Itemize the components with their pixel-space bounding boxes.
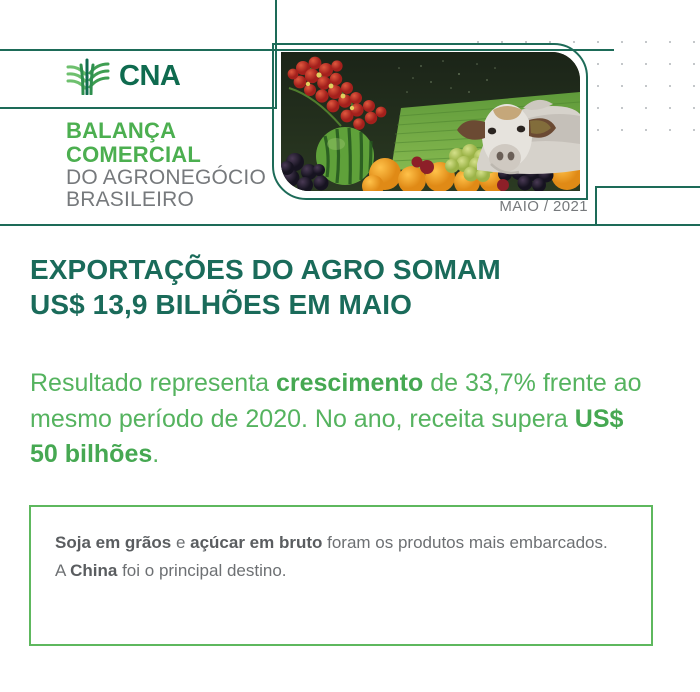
brand-line-agro: DO AGRONEGÓCIO <box>66 167 266 190</box>
cna-logo: CNA <box>66 57 180 95</box>
cna-wordmark: CNA <box>119 62 180 91</box>
hero-photo <box>281 52 580 191</box>
highlight-text-destino: foi o principal destino. <box>117 561 286 580</box>
header-rule-mid-left <box>0 107 277 109</box>
highlights-text: Soja em grãos e açúcar em bruto foram os… <box>31 507 651 584</box>
highlight-text-tail: foram os produtos mais embarcados. <box>322 533 607 552</box>
highlight-text-e: e <box>171 533 190 552</box>
issue-date: MAIO / 2021 <box>466 198 588 215</box>
highlight-destination: A China foi o principal destino. <box>55 557 627 585</box>
cna-wheat-leaf-icon <box>66 57 110 95</box>
summary-paragraph: Resultado representa crescimento de 33,7… <box>30 366 650 473</box>
headline-line-2: US$ 13,9 BILHÕES EM MAIO <box>30 287 670 322</box>
header-rule-bottom <box>0 224 700 226</box>
header-rule-top-left <box>0 49 277 51</box>
highlights-box: Soja em grãos e açúcar em bruto foram os… <box>29 505 653 646</box>
header-rule-date-top <box>596 186 700 188</box>
brand-line-comercial: COMERCIAL <box>66 143 266 167</box>
highlight-text-a: A <box>55 561 70 580</box>
highlight-products: Soja em grãos e açúcar em bruto foram os… <box>55 529 627 557</box>
summary-text-1: Resultado representa <box>30 369 276 397</box>
header-rule-logo-right <box>277 49 614 51</box>
highlight-bold-soja: Soja em grãos <box>55 533 171 552</box>
header-rule-vertical-date <box>595 186 597 226</box>
summary-bold-crescimento: crescimento <box>276 369 423 397</box>
headline-line-1: EXPORTAÇÕES DO AGRO SOMAM <box>30 252 670 287</box>
highlight-bold-china: China <box>70 561 117 580</box>
infographic-page: CNA BALANÇA COMERCIAL DO AGRONEGÓCIO BRA… <box>0 0 700 692</box>
page-title: EXPORTAÇÕES DO AGRO SOMAM US$ 13,9 BILHÕ… <box>30 252 670 323</box>
brand-line-brasileiro: BRASILEIRO <box>66 189 266 212</box>
brand-title-block: BALANÇA COMERCIAL DO AGRONEGÓCIO BRASILE… <box>66 119 266 212</box>
header-rule-vertical-top <box>275 0 277 52</box>
header-rule-vertical-mid <box>275 49 277 109</box>
summary-text-3: . <box>152 440 159 468</box>
brand-line-balanca: BALANÇA <box>66 119 266 143</box>
highlight-bold-acucar: açúcar em bruto <box>190 533 322 552</box>
